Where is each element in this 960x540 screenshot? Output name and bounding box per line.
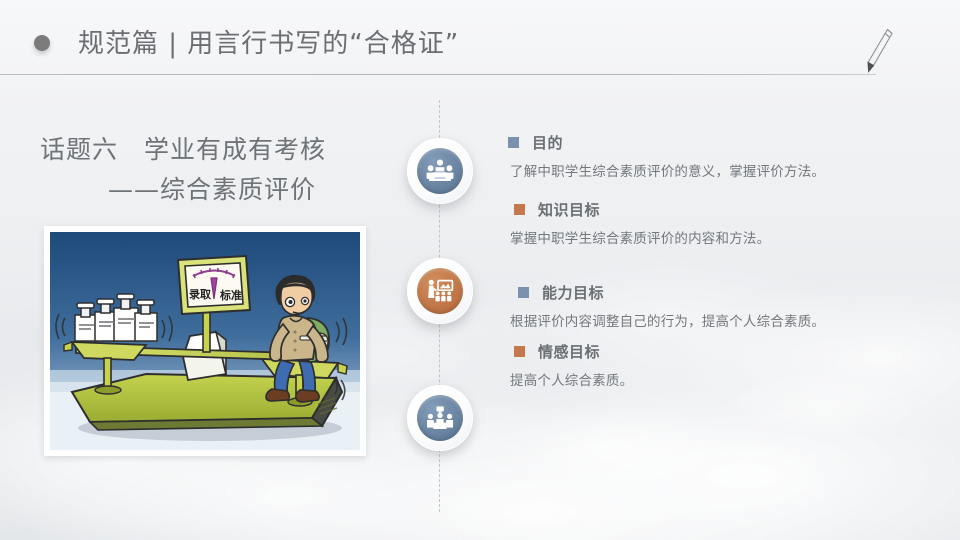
objective-title: 情感目标 xyxy=(538,341,600,362)
objective-title: 目的 xyxy=(532,132,563,153)
presentation-training-icon xyxy=(417,268,463,314)
topic-heading: 话题六 学业有成有考核 ——综合素质评价 xyxy=(40,130,390,210)
square-bullet-icon xyxy=(514,346,525,357)
topic-heading-line1: 话题六 学业有成有考核 xyxy=(40,130,390,170)
pencil-icon xyxy=(862,26,896,76)
group-discussion-icon xyxy=(417,395,463,441)
topic-heading-subtitle: ——综合素质评价 xyxy=(40,170,390,210)
timeline-node-1[interactable] xyxy=(407,138,473,204)
objective-body: 掌握中职学生综合素质评价的内容和方法。 xyxy=(510,226,862,252)
objective-title: 能力目标 xyxy=(542,282,604,303)
meeting-people-icon xyxy=(417,148,463,194)
page-title: 规范篇 | 用言行书写的“合格证” xyxy=(78,23,459,60)
objective-heading: 目的 xyxy=(508,132,908,153)
objectives-list: 目的 了解中职学生综合素质评价的意义，掌握评价方法。 知识目标 掌握中职学生综合… xyxy=(508,132,908,398)
slide-header: 规范篇 | 用言行书写的“合格证” xyxy=(0,0,960,90)
header-divider xyxy=(0,74,876,75)
balance-scale-cartoon: 录取 标准 xyxy=(50,232,360,450)
objective-body: 提高个人综合素质。 xyxy=(510,368,862,394)
square-bullet-icon xyxy=(508,137,519,148)
circle-bullet-icon xyxy=(34,35,50,51)
objective-item-knowledge: 知识目标 掌握中职学生综合素质评价的内容和方法。 xyxy=(508,199,908,252)
objective-heading: 知识目标 xyxy=(508,199,908,220)
objective-body: 了解中职学生综合素质评价的意义，掌握评价方法。 xyxy=(510,159,862,185)
timeline-node-3[interactable] xyxy=(407,385,473,451)
objective-title: 知识目标 xyxy=(538,199,600,220)
square-bullet-icon xyxy=(514,204,525,215)
objective-item-ability: 能力目标 根据评价内容调整自己的行为，提高个人综合素质。 xyxy=(508,282,908,335)
svg-text:标准: 标准 xyxy=(219,288,242,302)
objective-item-purpose: 目的 了解中职学生综合素质评价的意义，掌握评价方法。 xyxy=(508,132,908,185)
slide-canvas: 规范篇 | 用言行书写的“合格证” 话题六 学业有成有考核 ——综合素质评价 xyxy=(0,0,960,540)
svg-text:录取: 录取 xyxy=(189,288,211,301)
timeline-node-2[interactable] xyxy=(407,258,473,324)
objective-body: 根据评价内容调整自己的行为，提高个人综合素质。 xyxy=(510,309,862,335)
objective-heading: 情感目标 xyxy=(508,341,908,362)
illustration-frame: 录取 标准 xyxy=(44,226,366,456)
objective-heading: 能力目标 xyxy=(508,282,908,303)
balance-scale-illustration-svg: 录取 标准 xyxy=(50,232,360,450)
square-bullet-icon xyxy=(518,287,529,298)
objective-item-emotion: 情感目标 提高个人综合素质。 xyxy=(508,341,908,394)
